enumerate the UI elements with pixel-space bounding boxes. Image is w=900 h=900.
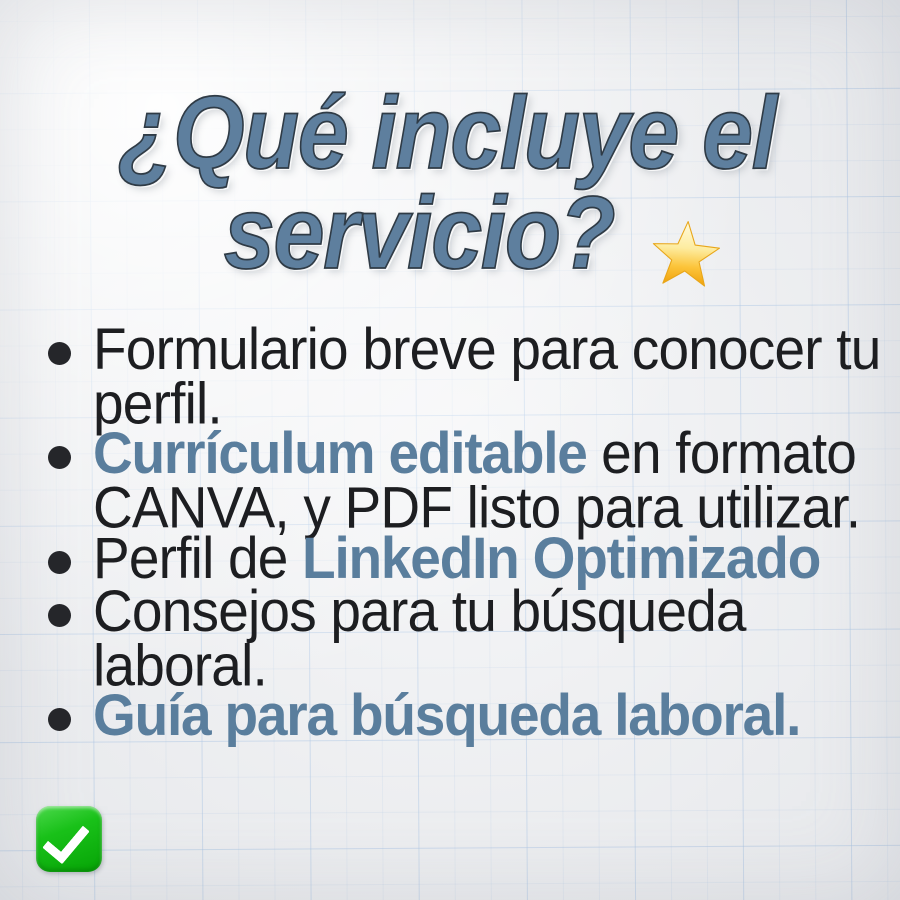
bullet-icon: [48, 551, 71, 574]
bullet-icon: [48, 708, 71, 731]
star-icon: [648, 213, 725, 290]
title-line-1: ¿Qué incluye el: [28, 86, 866, 182]
poster-canvas: ¿Qué incluye el servicio?: [0, 0, 900, 900]
list-item: Perfil de LinkedIn Optimizado: [28, 531, 882, 582]
page-title: ¿Qué incluye el servicio?: [0, 86, 900, 271]
title-line-2: servicio?: [224, 186, 614, 282]
text-segment: Consejos para tu búsqueda laboral.: [93, 577, 746, 698]
list-item: Guía para búsqueda laboral.: [28, 688, 882, 739]
check-mark-glyph: [36, 806, 102, 872]
features-list: Formulario breve para conocer tu perfil.…: [28, 322, 882, 741]
list-item-text: Currículum editable en formato CANVA, y …: [93, 426, 882, 535]
list-item: Currículum editable en formato CANVA, y …: [28, 426, 882, 528]
list-item-text: Guía para búsqueda laboral.: [93, 688, 800, 743]
text-segment: Formulario breve para conocer tu perfil.: [93, 316, 881, 437]
text-segment-emphasis: Guía para búsqueda laboral.: [93, 682, 800, 748]
bullet-icon: [48, 604, 71, 627]
title-line-2-row: servicio?: [80, 186, 866, 282]
list-item: Formulario breve para conocer tu perfil.: [28, 322, 882, 424]
bullet-icon: [48, 446, 71, 469]
check-mark-icon: [36, 806, 102, 872]
bullet-icon: [48, 342, 71, 365]
list-item-text: Formulario breve para conocer tu perfil.: [93, 322, 882, 431]
list-item: Consejos para tu búsqueda laboral.: [28, 584, 882, 686]
list-item-text: Consejos para tu búsqueda laboral.: [93, 584, 882, 693]
